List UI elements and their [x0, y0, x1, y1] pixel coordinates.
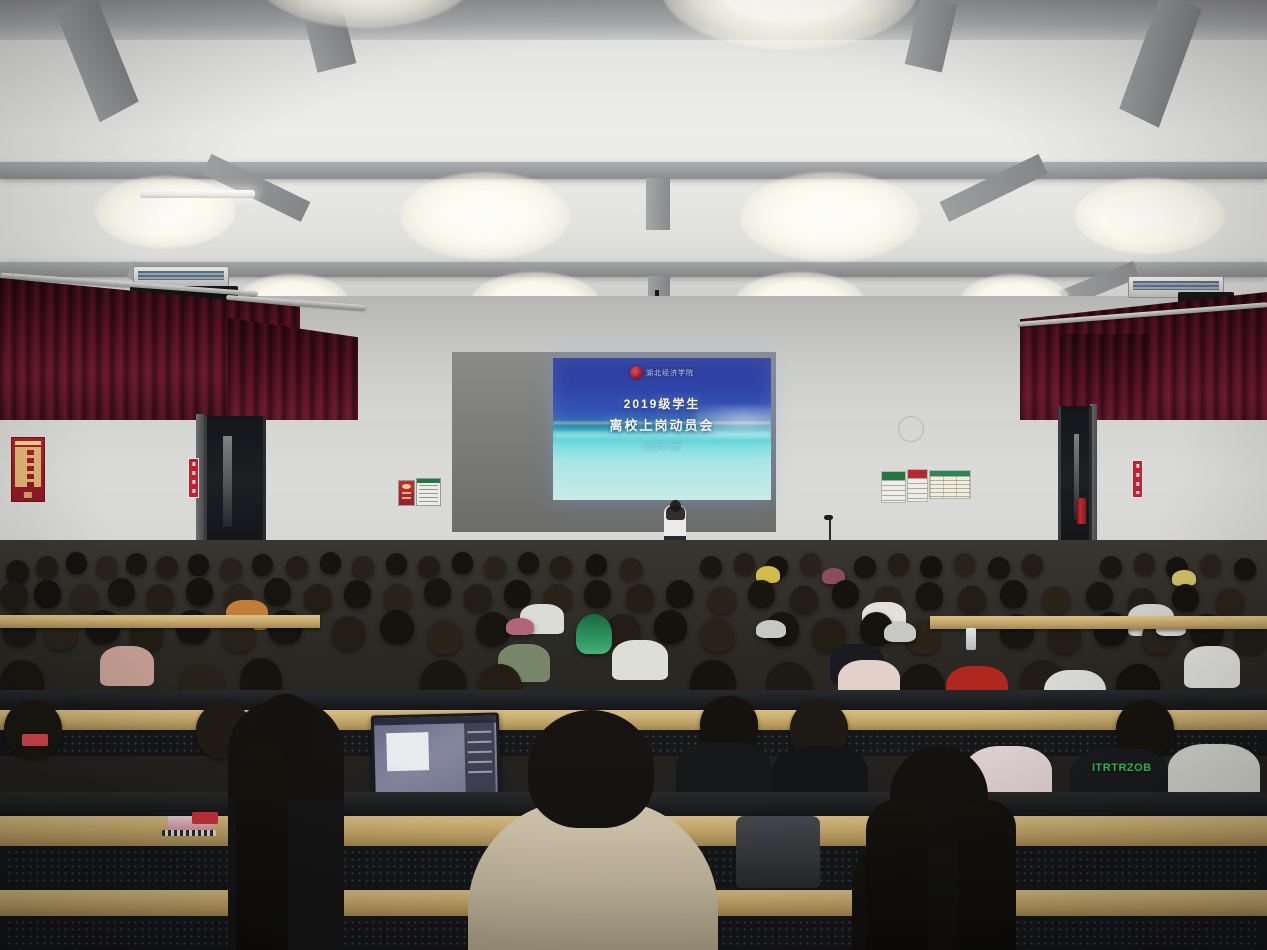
board-body [908, 478, 927, 501]
face-mask-white [884, 622, 916, 642]
student-longhair-hair [236, 744, 288, 950]
fluorescent-tube-light [140, 190, 255, 198]
slide-logo-row: 湖北经济学院 [553, 366, 771, 379]
red-notebook [192, 812, 218, 824]
certificate-emblem-icon [402, 484, 411, 489]
water-bottle [966, 628, 976, 650]
desk-item-strip [162, 830, 216, 836]
board-header [908, 470, 927, 478]
board-body [882, 480, 905, 502]
slide-line-3: 2022年 6月 [553, 442, 771, 451]
desk-top [930, 616, 1267, 629]
laptop-document-page [386, 732, 428, 772]
ceiling-beam-rear [0, 162, 1267, 179]
vertical-red-sign [188, 458, 199, 498]
sign-text-glyphs [192, 462, 195, 494]
notice-board-schedule [929, 470, 971, 499]
door-light-gap [223, 436, 232, 527]
ceiling-downlight [1075, 178, 1225, 254]
poster-title-bar [15, 441, 41, 445]
wall-clock [898, 416, 924, 442]
laptop-side-panel [464, 719, 495, 802]
slide-logo-text: 湖北经济学院 [646, 368, 694, 378]
student-right-hair [958, 800, 1016, 950]
desk-top [0, 615, 320, 628]
vertical-red-sign-right [1132, 460, 1143, 498]
student-beige-shirt-head [528, 710, 654, 828]
board-body [930, 476, 970, 498]
ac-louver-icon [138, 271, 224, 280]
audience-shirt-white [612, 640, 668, 680]
desk-row-mid-right [930, 616, 1267, 629]
lecture-hall-photo: 湖北经济学院 2019级学生 离校上岗动员会 2022年 6月 [0, 0, 1267, 950]
sign-text-glyphs [1136, 464, 1139, 494]
ceiling-downlight [95, 176, 235, 248]
certificate-lines [402, 492, 411, 502]
schedule-lines [419, 485, 438, 503]
ceiling-downlight [400, 172, 570, 260]
slide-line-1: 2019级学生 [553, 395, 771, 412]
ceiling-downlight [660, 0, 920, 50]
small-white-schedule [416, 478, 441, 506]
desk-row-mid-left [0, 615, 320, 628]
student-right-hair [866, 800, 928, 950]
red-notice-poster [11, 437, 45, 502]
slide-line-2: 离校上岗动员会 [553, 415, 771, 434]
small-red-certificate [398, 480, 415, 506]
notice-board-green [881, 471, 906, 503]
audience-shirt-white [1184, 646, 1240, 688]
schedule-header [417, 479, 440, 483]
notice-board-red [907, 469, 928, 502]
poster-text-grid [15, 447, 41, 487]
ac-louver-icon [1133, 281, 1219, 290]
baseball-cap-white [756, 620, 786, 638]
fire-extinguisher [1077, 498, 1086, 524]
ceiling-rear-slab [0, 0, 1267, 40]
projection-screen: 湖北经济学院 2019级学生 离校上岗动员会 2022年 6月 [553, 358, 771, 500]
ceiling-rib-center [646, 178, 670, 230]
baseball-cap-pink [506, 618, 534, 635]
audience-green-hair [576, 614, 612, 654]
audience-shirt-rose [100, 646, 154, 686]
tee-shirt-text: ITRTRZOB [1092, 762, 1152, 774]
poster-seal [24, 492, 32, 498]
red-sticker [22, 734, 48, 746]
presenter-hair [666, 506, 685, 520]
university-emblem-icon [630, 366, 643, 379]
gooseneck-microphone [824, 515, 833, 520]
board-header [882, 472, 905, 480]
ceiling-downlight [740, 172, 920, 262]
backpack [736, 816, 820, 888]
bench-back-mid [0, 690, 1267, 712]
